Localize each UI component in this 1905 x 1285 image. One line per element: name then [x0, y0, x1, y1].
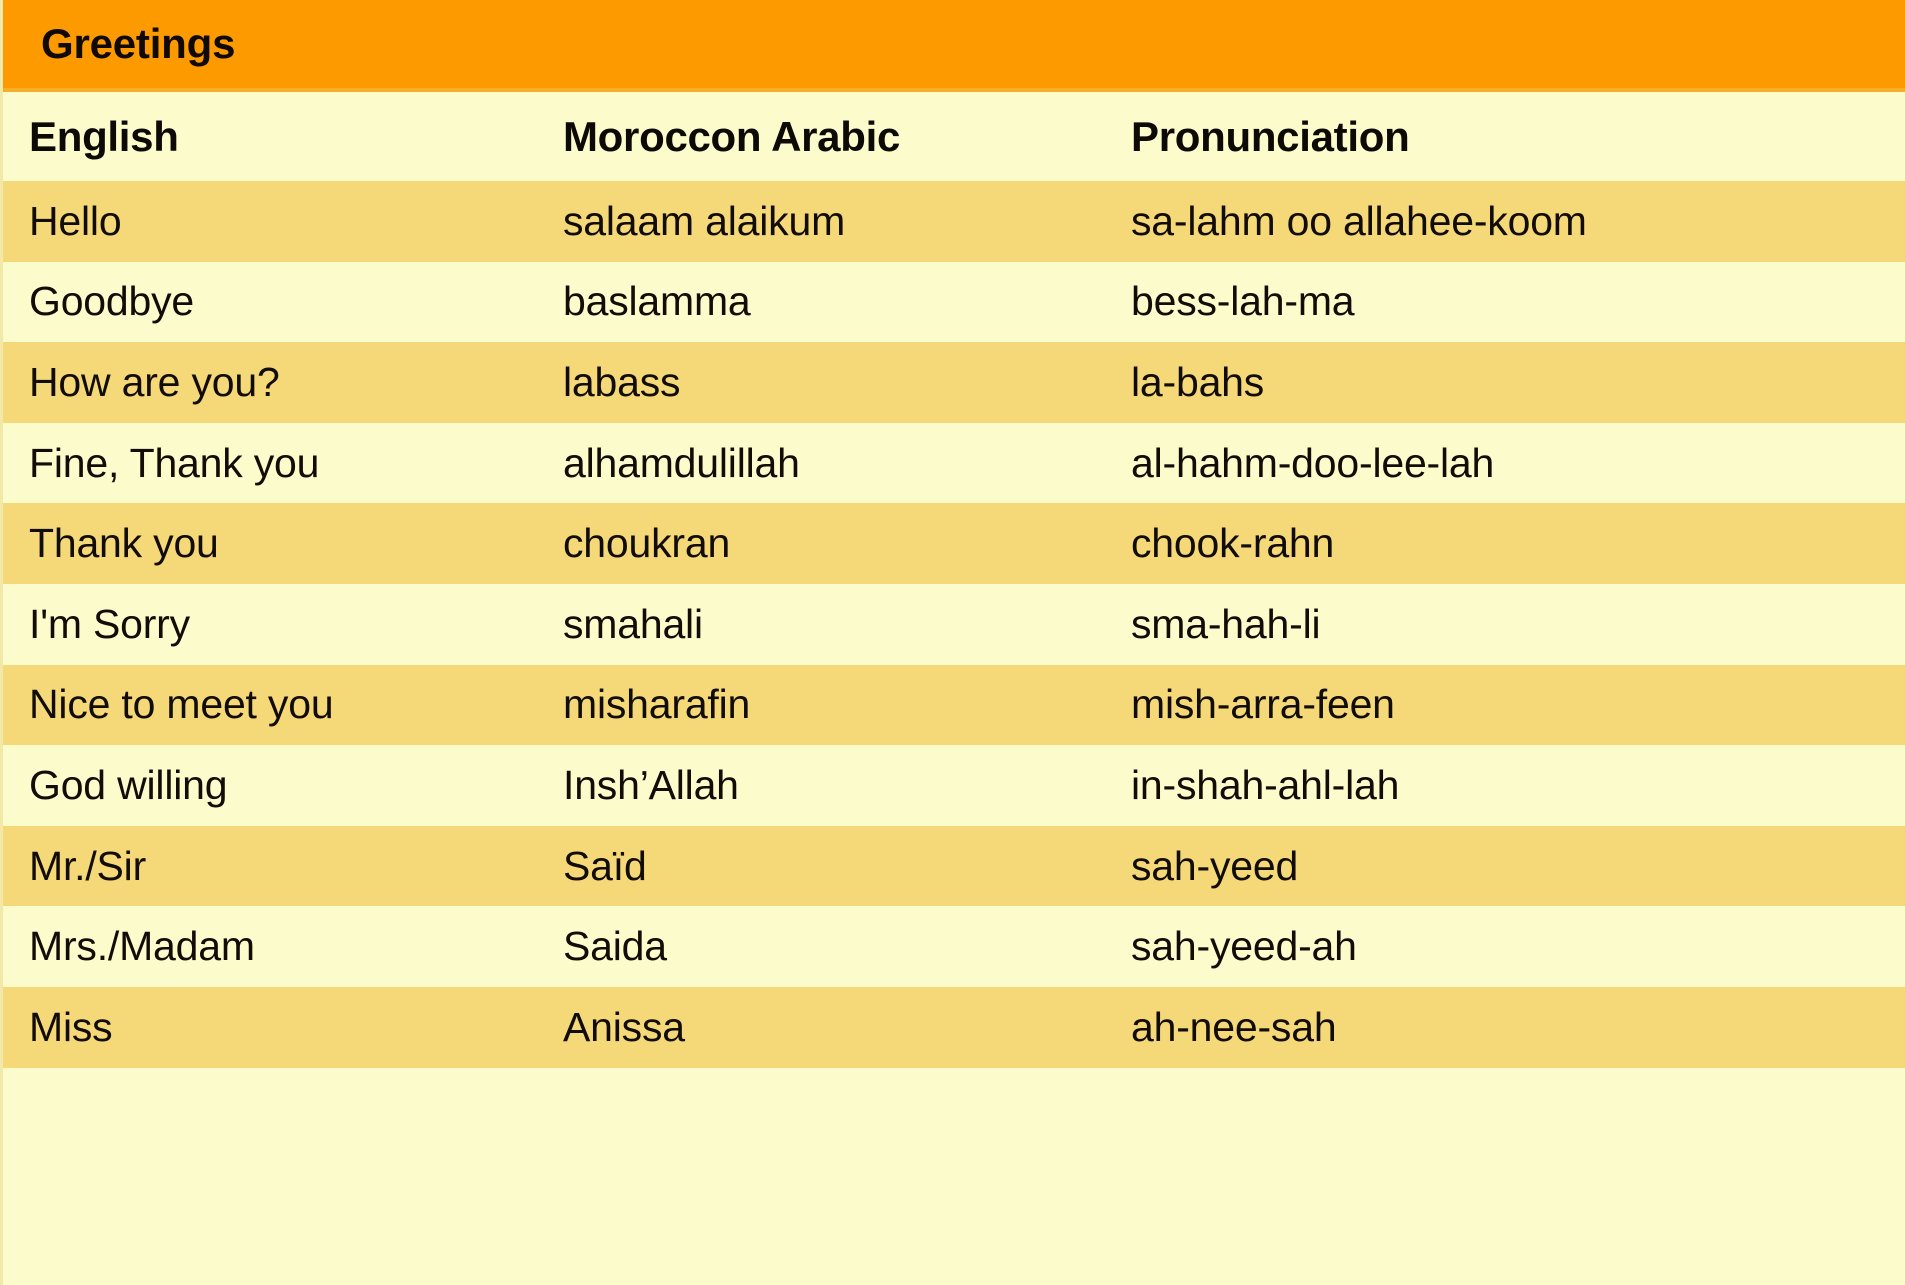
cell-pronunciation: sah-yeed-ah	[1131, 923, 1905, 970]
page-title: Greetings	[41, 20, 235, 68]
table-row: Mrs./MadamSaidasah-yeed-ah	[3, 906, 1905, 987]
cell-english: I'm Sorry	[3, 601, 563, 648]
table-row: Mr./SirSaïdsah-yeed	[3, 826, 1905, 907]
table-row: God willingInsh’Allahin-shah-ahl-lah	[3, 745, 1905, 826]
table-row: I'm Sorrysmahalisma-hah-li	[3, 584, 1905, 665]
table-row: Nice to meet youmisharafinmish-arra-feen	[3, 665, 1905, 746]
cell-moroccon-arabic: smahali	[563, 601, 1131, 648]
cell-pronunciation: la-bahs	[1131, 359, 1905, 406]
cell-english: God willing	[3, 762, 563, 809]
cell-moroccon-arabic: Saida	[563, 923, 1131, 970]
cell-english: Mrs./Madam	[3, 923, 563, 970]
table-row: Goodbyebaslammabess-lah-ma	[3, 262, 1905, 343]
table-row: MissAnissaah-nee-sah	[3, 987, 1905, 1068]
column-header-moroccon-arabic: Moroccon Arabic	[563, 113, 1131, 161]
cell-moroccon-arabic: Insh’Allah	[563, 762, 1131, 809]
table-body: Hellosalaam alaikumsa-lahm oo allahee-ko…	[3, 181, 1905, 1068]
cell-english: Fine, Thank you	[3, 440, 563, 487]
cell-moroccon-arabic: alhamdulillah	[563, 440, 1131, 487]
column-header-pronunciation: Pronunciation	[1131, 113, 1905, 161]
cell-moroccon-arabic: labass	[563, 359, 1131, 406]
table-title-bar: Greetings	[3, 0, 1905, 92]
cell-english: Miss	[3, 1004, 563, 1051]
cell-pronunciation: bess-lah-ma	[1131, 278, 1905, 325]
table-row: How are you?labassla-bahs	[3, 342, 1905, 423]
cell-moroccon-arabic: salaam alaikum	[563, 198, 1131, 245]
cell-pronunciation: ah-nee-sah	[1131, 1004, 1905, 1051]
cell-pronunciation: sma-hah-li	[1131, 601, 1905, 648]
cell-english: How are you?	[3, 359, 563, 406]
cell-moroccon-arabic: baslamma	[563, 278, 1131, 325]
greetings-table-card: Greetings English Moroccon Arabic Pronun…	[0, 0, 1905, 1285]
cell-english: Nice to meet you	[3, 681, 563, 728]
table-row: Thank youchoukranchook-rahn	[3, 503, 1905, 584]
cell-english: Goodbye	[3, 278, 563, 325]
cell-pronunciation: sa-lahm oo allahee-koom	[1131, 198, 1905, 245]
cell-moroccon-arabic: Saïd	[563, 843, 1131, 890]
cell-english: Thank you	[3, 520, 563, 567]
cell-pronunciation: al-hahm-doo-lee-lah	[1131, 440, 1905, 487]
table-row: Hellosalaam alaikumsa-lahm oo allahee-ko…	[3, 181, 1905, 262]
cell-pronunciation: chook-rahn	[1131, 520, 1905, 567]
cell-moroccon-arabic: choukran	[563, 520, 1131, 567]
cell-moroccon-arabic: Anissa	[563, 1004, 1131, 1051]
table-column-header-row: English Moroccon Arabic Pronunciation	[3, 92, 1905, 181]
cell-pronunciation: sah-yeed	[1131, 843, 1905, 890]
column-header-english: English	[3, 113, 563, 161]
cell-english: Hello	[3, 198, 563, 245]
cell-pronunciation: mish-arra-feen	[1131, 681, 1905, 728]
cell-english: Mr./Sir	[3, 843, 563, 890]
cell-moroccon-arabic: misharafin	[563, 681, 1131, 728]
table-row: Fine, Thank youalhamdulillahal-hahm-doo-…	[3, 423, 1905, 504]
cell-pronunciation: in-shah-ahl-lah	[1131, 762, 1905, 809]
